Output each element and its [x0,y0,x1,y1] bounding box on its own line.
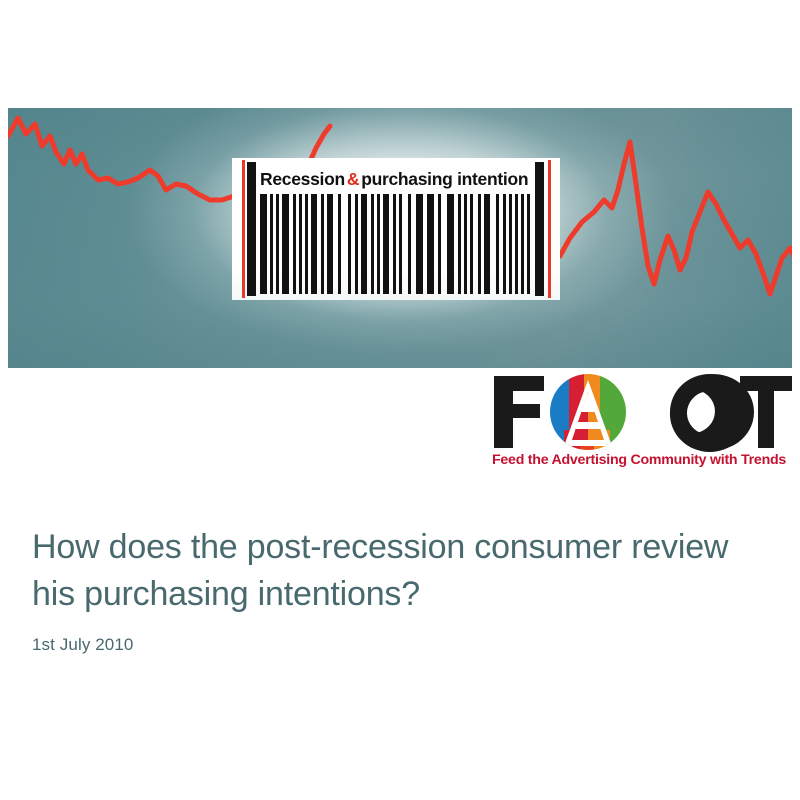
barcode-bar [361,194,367,294]
barcode-bar [496,194,499,294]
barcode-bar [383,194,389,294]
barcode-left-red-guard [242,160,245,298]
barcode-graphic: Recession & purchasing intention [232,158,560,300]
barcode-title-ampersand: & [347,169,359,190]
logo-letter-a-mark [550,374,626,452]
fact-logo: Feed the Advertising Community with Tren… [492,372,792,480]
barcode-bar [416,194,423,294]
logo-letter-f [494,376,544,448]
barcode-bar [377,194,380,294]
barcode-bars [260,194,532,294]
barcode-bar [305,194,308,294]
barcode-bar [270,194,273,294]
barcode-bar [408,194,411,294]
title-slide: Recession & purchasing intention [0,0,800,800]
barcode-bar [447,194,454,294]
barcode-bar [438,194,441,294]
barcode-bar [478,194,481,294]
barcode-bar [338,194,341,294]
barcode-bar [276,194,279,294]
barcode-bar [458,194,461,294]
barcode-right-black-guard [535,162,544,296]
barcode-bar [355,194,358,294]
barcode-right-red-guard [548,160,551,298]
barcode-title-part-1: Recession [260,169,345,190]
barcode-bar [509,194,512,294]
barcode-bar [260,194,267,294]
barcode-bar [371,194,374,294]
barcode-bar [484,194,490,294]
barcode-bar [464,194,467,294]
barcode-bar [427,194,434,294]
fact-wordmark [492,372,792,452]
barcode-bar [399,194,402,294]
barcode-bar [282,194,289,294]
barcode-bar [503,194,506,294]
barcode-bar [527,194,530,294]
fact-tagline: Feed the Advertising Community with Tren… [492,452,792,468]
barcode-bar [293,194,296,294]
barcode-bar [348,194,351,294]
slide-date: 1st July 2010 [32,635,752,655]
barcode-bar [521,194,524,294]
barcode-bar [515,194,518,294]
slide-title: How does the post-recession consumer rev… [32,524,752,618]
barcode-title-text: Recession & purchasing intention [260,166,532,192]
title-block: How does the post-recession consumer rev… [32,524,752,655]
barcode-bar [311,194,317,294]
barcode-bar [299,194,302,294]
barcode-bar [393,194,396,294]
barcode-bar [327,194,333,294]
barcode-bar [470,194,473,294]
barcode-title-part-2: purchasing intention [361,169,528,190]
trendline-right-segment [560,142,792,348]
barcode-bar [321,194,324,294]
barcode-left-black-guard [247,162,256,296]
